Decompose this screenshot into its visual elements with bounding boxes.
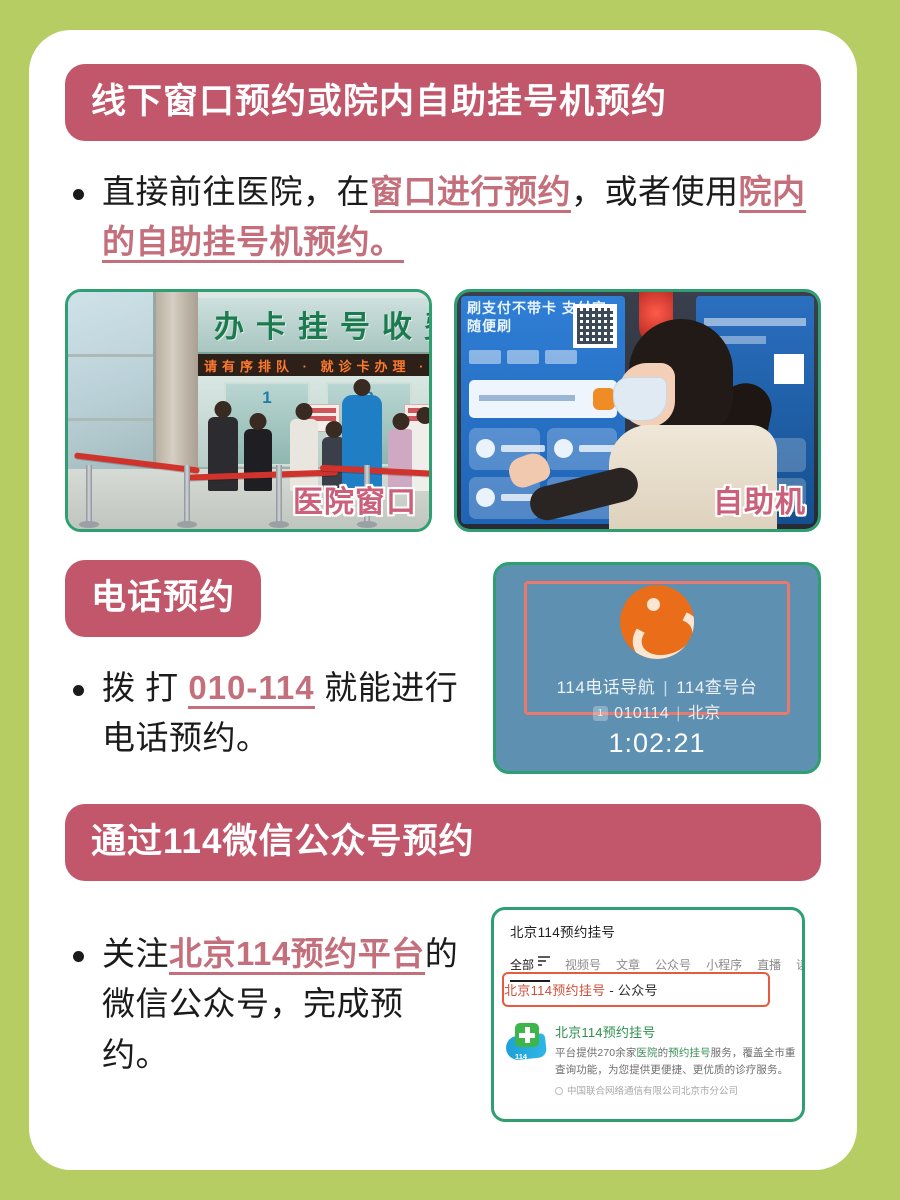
- bullet-wechat-prefix: 关注: [102, 935, 169, 972]
- call-line-index: 1: [593, 706, 608, 721]
- card-content: 线下窗口预约或院内自助挂号机预约 直接前往医院，在窗口进行预约，或者使用院内的自…: [29, 30, 857, 1170]
- person-2: [244, 429, 272, 491]
- call-location: 北京: [688, 705, 721, 722]
- queue-post-3: [276, 465, 282, 523]
- call-dialed-number: 010114: [614, 705, 669, 722]
- desc-part-a: 平台提供270余家: [555, 1047, 636, 1059]
- queue-post-1: [86, 465, 92, 523]
- section-wechat: 关注北京114预约平台的微信公众号，完成预约。 北京114预约挂号 全部 视频号…: [65, 907, 821, 1122]
- bullet-dot-icon: [73, 951, 84, 962]
- desc-part-c: 的: [658, 1047, 669, 1059]
- wechat-result-body: 北京114预约挂号 平台提供270余家医院的预约挂号服务，覆盖全市重查询功能，为…: [555, 1022, 796, 1097]
- desc-part-d: 预约挂号: [668, 1047, 710, 1059]
- bullet-wechat-highlight: 北京114预约平台: [169, 935, 425, 975]
- desc-part-e: 服务，覆盖全市重: [711, 1047, 796, 1059]
- section-badge-offline: 线下窗口预约或院内自助挂号机预约: [65, 64, 821, 141]
- wechat-image-column: 北京114预约挂号 全部 视频号 文章 公众号 小程序 直播 读 北京114预约…: [491, 907, 821, 1122]
- call-separator-1: |: [663, 678, 668, 697]
- wechat-search-screenshot: 北京114预约挂号 全部 视频号 文章 公众号 小程序 直播 读 北京114预约…: [491, 907, 805, 1122]
- kiosk-chip-row: [469, 350, 577, 364]
- queue-post-2: [184, 465, 190, 523]
- bullet-phone-prefix: 拨 打: [102, 669, 188, 706]
- wechat-tab-articles[interactable]: 文章: [616, 956, 640, 973]
- medical-cross-icon: [515, 1023, 539, 1047]
- photo-caption-hospital-window: 医院窗口: [293, 477, 417, 521]
- photo-row-offline: 办卡挂号收费 请有序排队 · 就诊卡办理 · 医保结算一站式服务 1 2 3: [65, 289, 821, 532]
- bullet-phone: 拨 打 010-114 就能进行电话预约。: [65, 663, 467, 763]
- call-service-name: 114电话导航: [557, 678, 656, 697]
- suggestion-keyword: 北京114预约挂号: [504, 983, 605, 998]
- wechat-tab-mini-programs[interactable]: 小程序: [706, 956, 742, 973]
- wechat-search-tabs: 全部 视频号 文章 公众号 小程序 直播 读: [510, 956, 802, 973]
- photo-caption-self-service-kiosk: 自助机: [713, 477, 806, 521]
- main-card: 线下窗口预约或院内自助挂号机预约 直接前往医院，在窗口进行预约，或者使用院内的自…: [29, 30, 857, 1170]
- pillar: [156, 292, 198, 478]
- phone-image-column: 114电话导航|114查号台 1010114|北京 1:02:21: [493, 560, 821, 774]
- wechat-search-query[interactable]: 北京114预约挂号: [510, 921, 802, 941]
- wechat-tab-more[interactable]: 读: [796, 956, 805, 973]
- wechat-result-title: 北京114预约挂号: [555, 1022, 796, 1041]
- person-1: [208, 417, 238, 491]
- bullet-wechat-text: 关注北京114预约平台的微信公众号，完成预约。: [102, 929, 469, 1079]
- wechat-tab-channels[interactable]: 视频号: [565, 956, 601, 973]
- call-service-alt: 114查号台: [676, 678, 757, 697]
- signboard-text: 办卡挂号收费: [214, 302, 432, 346]
- bullet-offline-highlight-1: 窗口进行预约: [370, 173, 571, 213]
- call-duration-timer: 1:02:21: [496, 728, 818, 759]
- phone-number: 010-114: [188, 669, 314, 709]
- led-ticker-text: 请有序排队 · 就诊卡办理 · 医保结算一站式服务: [204, 356, 429, 375]
- kiosk-tile-clinic: [547, 428, 618, 470]
- call-separator-2: |: [676, 705, 681, 722]
- globe-icon: [555, 1087, 563, 1095]
- bullet-dot-icon: [73, 685, 84, 696]
- bullet-dot-icon: [73, 189, 84, 200]
- suggestion-suffix: - 公众号: [605, 983, 657, 998]
- led-ticker: 请有序排队 · 就诊卡办理 · 医保结算一站式服务: [198, 354, 429, 376]
- face-mask-icon: [613, 377, 667, 421]
- counter-signboard: 办卡挂号收费: [198, 298, 429, 354]
- call-number-line: 1010114|北京: [496, 699, 818, 723]
- window-number-1: 1: [262, 388, 271, 408]
- desc-line-2: 查询功能，为您提供更便捷、更优质的诊疗服务。: [555, 1064, 788, 1076]
- wechat-tab-all[interactable]: 全部: [510, 956, 550, 973]
- kiosk-app-badge-icon: [593, 388, 615, 410]
- avatar-label: 114: [515, 1052, 527, 1061]
- qr-code-icon: [573, 304, 617, 348]
- wechat-tab-live[interactable]: 直播: [757, 956, 781, 973]
- section-badge-phone: 电话预约: [65, 560, 261, 637]
- bullet-offline: 直接前往医院，在窗口进行预约，或者使用院内的自助挂号机预约。: [65, 167, 821, 267]
- call-screen-card: 114电话导航|114查号台 1010114|北京 1:02:21: [493, 562, 821, 774]
- bullet-offline-prefix: 直接前往医院，在: [102, 173, 370, 210]
- bullet-phone-text: 拨 打 010-114 就能进行电话预约。: [102, 663, 467, 763]
- wechat-result-source: 中国联合网络通信有限公司北京市分公司: [555, 1083, 796, 1097]
- official-account-avatar: 114: [506, 1022, 546, 1062]
- logo-114-icon: [620, 585, 694, 659]
- wechat-text-column: 关注北京114预约平台的微信公众号，完成预约。: [65, 907, 469, 1079]
- filter-icon[interactable]: [538, 956, 550, 968]
- wechat-result-description: 平台提供270余家医院的预约挂号服务，覆盖全市重查询功能，为您提供更便捷、更优质…: [555, 1045, 796, 1078]
- section-phone: 电话预约 拨 打 010-114 就能进行电话预约。 114电话导航|114查号…: [65, 560, 821, 774]
- bullet-offline-text: 直接前往医院，在窗口进行预约，或者使用院内的自助挂号机预约。: [102, 167, 821, 267]
- section-badge-wechat: 通过114微信公众号预约: [65, 804, 821, 881]
- call-service-line: 114电话导航|114查号台: [496, 673, 818, 698]
- source-text: 中国联合网络通信有限公司北京市分公司: [567, 1086, 738, 1097]
- wechat-search-suggestion[interactable]: 北京114预约挂号 - 公众号: [504, 980, 658, 999]
- desc-part-b: 医院: [636, 1047, 657, 1059]
- wechat-tab-official-accounts[interactable]: 公众号: [655, 956, 691, 973]
- bullet-offline-middle: ，或者使用: [571, 173, 739, 210]
- bullet-wechat: 关注北京114预约平台的微信公众号，完成预约。: [65, 929, 469, 1079]
- photo-self-service-kiosk: 刷支付不带卡 支付宝 随便刷: [454, 289, 821, 532]
- photo-hospital-window: 办卡挂号收费 请有序排队 · 就诊卡办理 · 医保结算一站式服务 1 2 3: [65, 289, 432, 532]
- phone-text-column: 电话预约 拨 打 010-114 就能进行电话预约。: [65, 560, 467, 763]
- wechat-search-result-item[interactable]: 114 北京114预约挂号 平台提供270余家医院的预约挂号服务，覆盖全市重查询…: [506, 1022, 796, 1097]
